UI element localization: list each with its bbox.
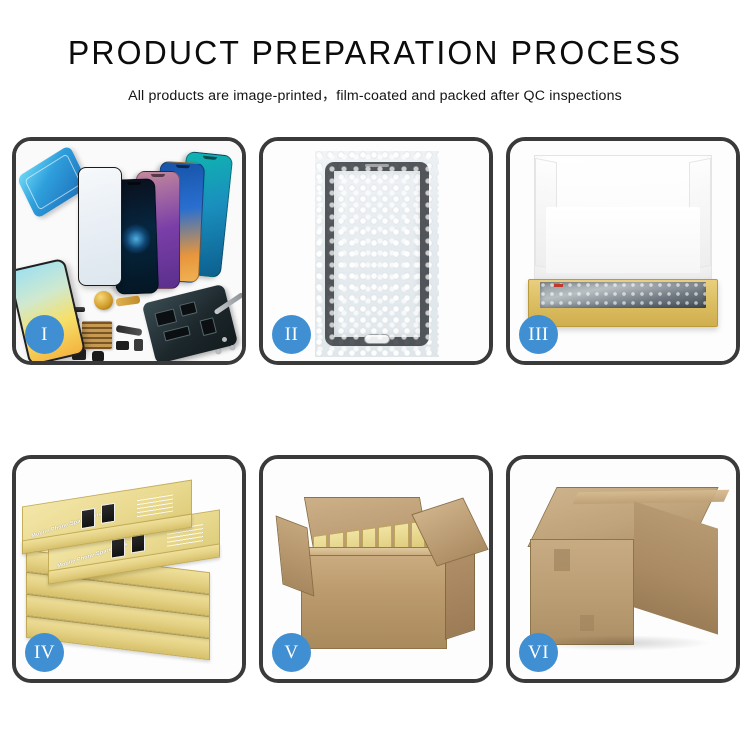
page-subtitle: All products are image-printed，film-coat… — [0, 85, 750, 105]
small-chip-a — [116, 341, 129, 350]
tempered-glass-sheet — [78, 167, 122, 286]
flex-cable-gold — [116, 295, 141, 306]
step-badge-2: II — [272, 315, 311, 354]
screw-a — [222, 337, 227, 342]
wrapped-phone-screen — [325, 162, 429, 346]
home-button — [364, 334, 390, 344]
carton-front-panel — [301, 555, 447, 649]
phone-screen-fan — [102, 153, 242, 303]
step-badge-3: III — [519, 315, 558, 354]
box-artwork-phone-2a — [111, 537, 125, 558]
screw-b — [230, 345, 235, 350]
box-spec-lines-1 — [137, 492, 173, 518]
gold-coil-component — [94, 291, 113, 310]
header: PRODUCT PREPARATION PROCESS All products… — [0, 0, 750, 105]
carton-flap-edge-top — [554, 549, 570, 571]
step-badge-6: VI — [519, 633, 558, 672]
process-step-panel-6: VI — [506, 455, 740, 683]
product-preparation-infographic: PRODUCT PREPARATION PROCESS All products… — [0, 0, 750, 750]
sealed-shipping-carton — [524, 487, 722, 657]
contact-grid-component — [82, 321, 112, 349]
process-step-grid: I II — [12, 137, 738, 683]
small-chip-d — [92, 351, 104, 361]
open-shipping-carton — [279, 481, 475, 659]
small-chip-e — [134, 339, 143, 351]
flex-cable-dark — [116, 325, 143, 336]
process-step-panel-1: I — [12, 137, 246, 365]
box-artwork-phone-1b — [101, 503, 115, 524]
step-badge-5: V — [272, 633, 311, 672]
page-title: PRODUCT PREPARATION PROCESS — [11, 34, 739, 72]
carton-ground-shadow — [532, 635, 712, 651]
step-badge-1: I — [25, 315, 64, 354]
process-step-panel-3: III — [506, 137, 740, 365]
process-step-panel-2: II — [259, 137, 493, 365]
screw-c — [216, 349, 221, 354]
wrapped-product-inside-box — [540, 282, 706, 308]
bubble-wrap-sheet — [315, 151, 439, 357]
box-artwork-phone-1a — [81, 508, 95, 529]
open-inner-box — [528, 155, 718, 337]
foam-padding — [546, 207, 700, 273]
red-label-mark — [554, 284, 563, 287]
process-step-panel-4: Mobile Phone Spare Parts Mobile Phone Sp… — [12, 455, 246, 683]
step-badge-4: IV — [25, 633, 64, 672]
process-step-panel-5: V — [259, 455, 493, 683]
carton-right-face — [634, 501, 718, 634]
carton-flap-edge-bottom — [580, 615, 594, 631]
